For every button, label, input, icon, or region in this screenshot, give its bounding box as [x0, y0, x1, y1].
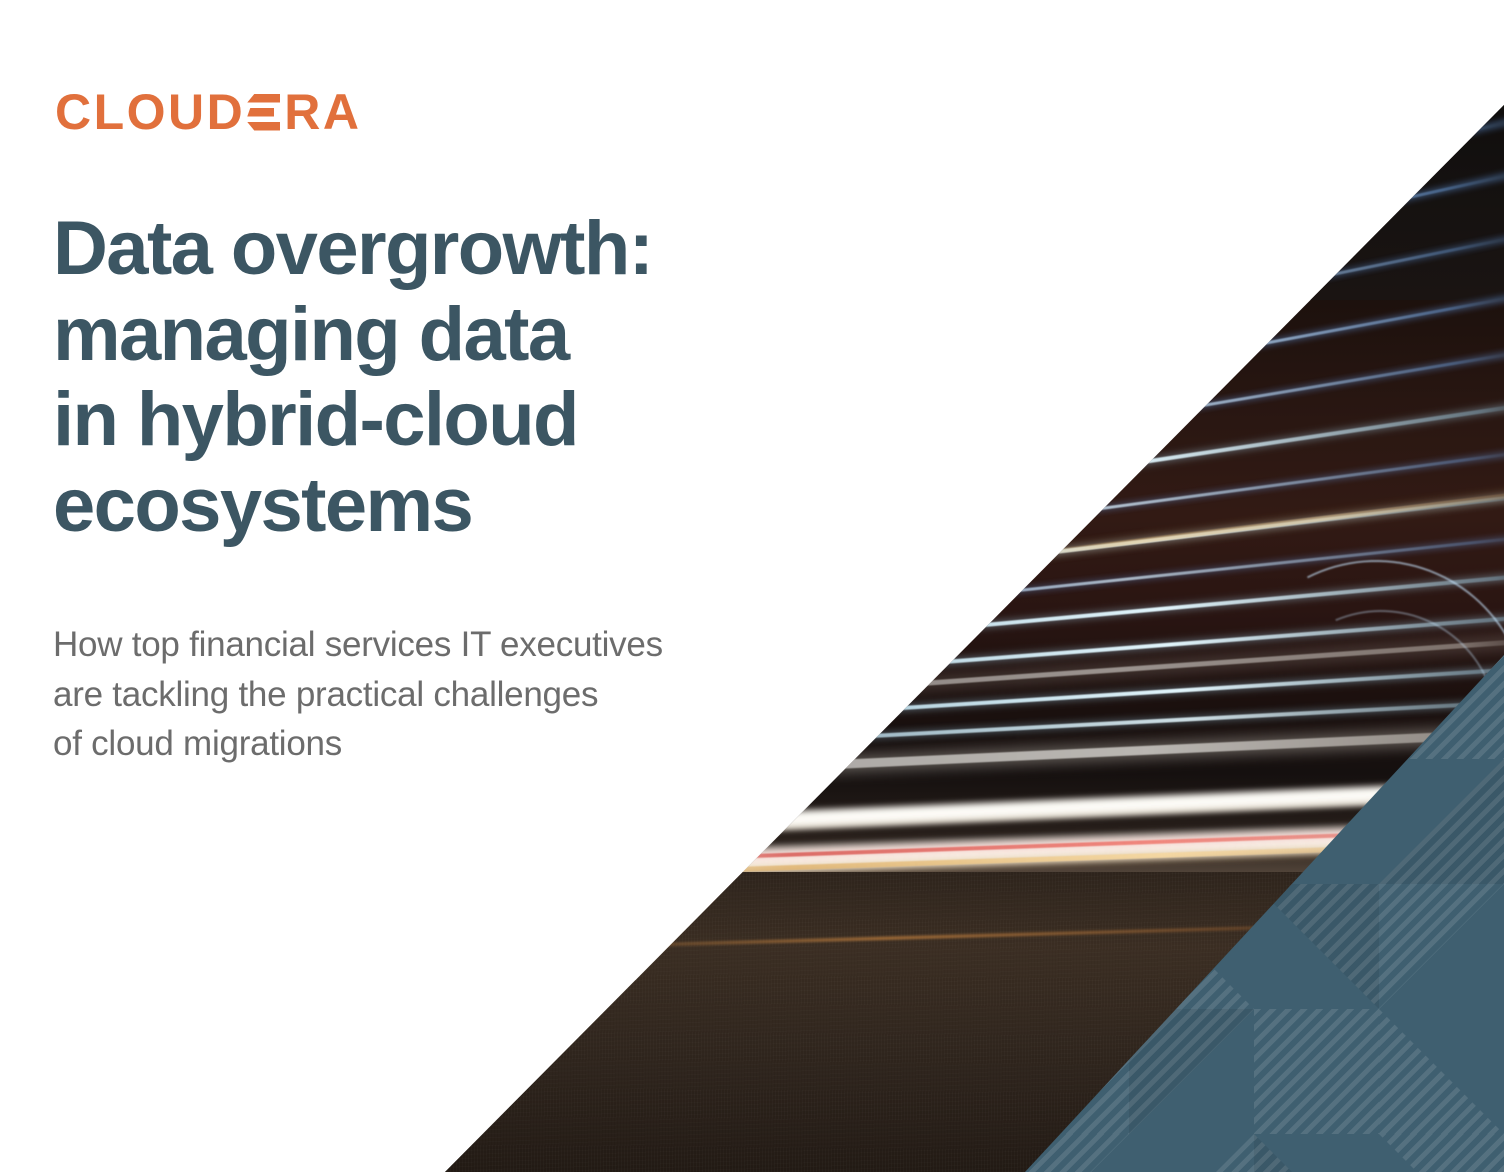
subtitle-line: How top financial services IT executives [53, 620, 813, 670]
headline-line: Data overgrowth: [53, 206, 813, 292]
cloudera-logo[interactable]: CLOUD RA [55, 86, 361, 138]
cover-page: CLOUD RA Data overgrowth: managing data … [0, 0, 1504, 1172]
page-title: Data overgrowth: managing data in hybrid… [53, 206, 813, 548]
headline-line: ecosystems [53, 463, 813, 549]
page-subtitle: How top financial services IT executives… [53, 620, 813, 769]
cloudera-stylized-e-icon [247, 94, 280, 130]
headline-line: in hybrid-cloud [53, 377, 813, 463]
logo-text-part-1: CLOUD [55, 87, 245, 137]
subtitle-line: are tackling the practical challenges [53, 670, 813, 720]
cloudera-logo-text: CLOUD RA [55, 87, 361, 137]
subtitle-line: of cloud migrations [53, 719, 813, 769]
logo-text-part-2: RA [284, 87, 361, 137]
headline-line: managing data [53, 292, 813, 378]
